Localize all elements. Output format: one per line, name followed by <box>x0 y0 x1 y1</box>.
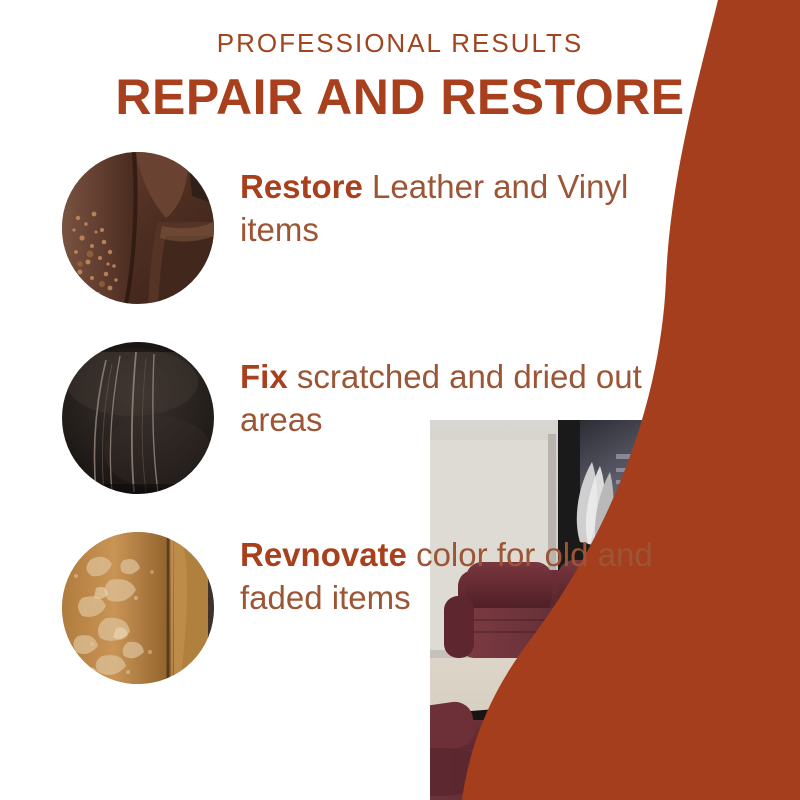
feature-item: Fix scratched and dried out areas <box>62 342 682 494</box>
feature-item: Restore Leather and Vinyl items <box>62 152 682 304</box>
feature-lead: Fix <box>240 358 288 395</box>
feature-lead: Restore <box>240 168 363 205</box>
page-title: REPAIR AND RESTORE <box>0 68 800 126</box>
feature-text: Fix scratched and dried out areas <box>240 342 670 442</box>
feature-item: Revnovate color for old and faded items <box>62 532 682 684</box>
feature-thumbnail-restore <box>62 152 214 304</box>
feature-text: Revnovate color for old and faded items <box>240 532 670 620</box>
feature-thumbnail-fix <box>62 342 214 494</box>
poster: PROFESSIONAL RESULTS REPAIR AND RESTORE <box>0 0 800 800</box>
feature-rest: scratched and dried out areas <box>240 358 642 438</box>
feature-thumbnail-renovate <box>62 532 214 684</box>
feature-text: Restore Leather and Vinyl items <box>240 152 670 252</box>
kicker-text: PROFESSIONAL RESULTS <box>0 28 800 59</box>
feature-lead: Revnovate <box>240 536 407 573</box>
